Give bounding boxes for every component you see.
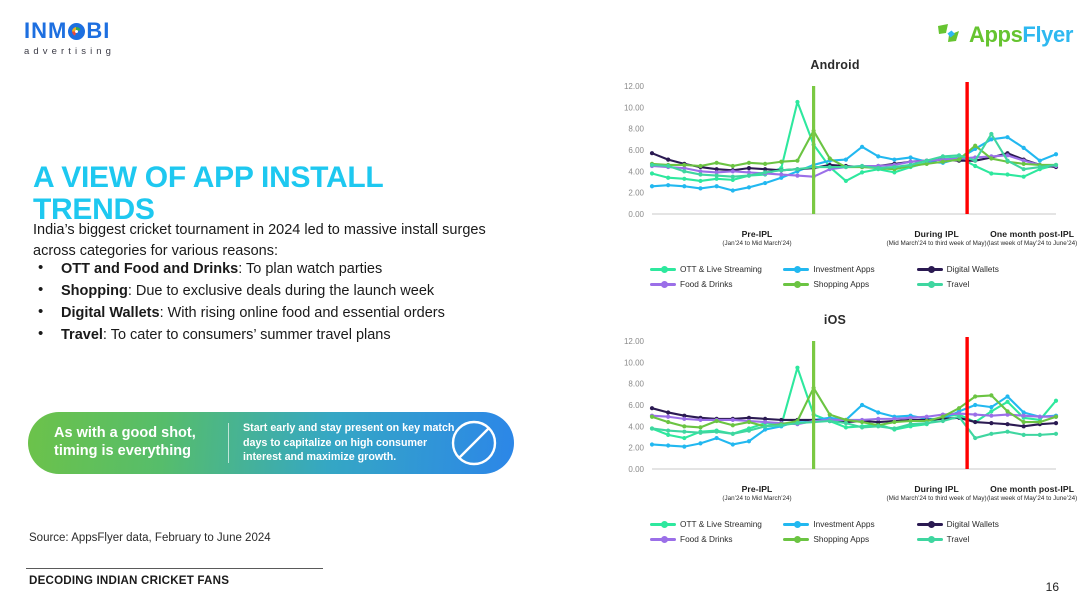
data-point: [860, 170, 864, 174]
data-point: [973, 144, 977, 148]
data-point: [892, 426, 896, 430]
data-point: [763, 420, 767, 424]
chart-title: iOS: [600, 313, 1070, 327]
data-point: [844, 165, 848, 169]
data-point: [731, 432, 735, 436]
inmobi-tagline: advertising: [24, 46, 174, 57]
data-point: [989, 156, 993, 160]
data-point: [989, 421, 993, 425]
legend-swatch-icon: [650, 268, 676, 271]
data-point: [731, 442, 735, 446]
list-item-text: : To plan watch parties: [238, 261, 382, 277]
data-point: [682, 163, 686, 167]
x-axis-phase-1: Pre-IPL(Jan’24 to Mid March’24): [672, 484, 842, 502]
data-point: [1054, 432, 1058, 436]
data-point: [779, 168, 783, 172]
data-point: [763, 170, 767, 174]
data-point: [1005, 430, 1009, 434]
callout-divider: [228, 423, 229, 463]
data-point: [989, 414, 993, 418]
data-point: [1038, 433, 1042, 437]
deck-title: DECODING INDIAN CRICKET FANS: [29, 574, 229, 587]
data-point: [1022, 433, 1026, 437]
appsflyer-logo: AppsFlyer: [937, 22, 1073, 48]
data-point: [682, 445, 686, 449]
data-point: [860, 420, 864, 424]
data-point: [1054, 399, 1058, 403]
key-takeaway-callout: As with a good shot, timing is everythin…: [28, 412, 514, 474]
data-point: [666, 410, 670, 414]
data-point: [1005, 409, 1009, 413]
data-point: [731, 188, 735, 192]
legend-item[interactable]: Travel: [917, 279, 1050, 289]
data-point: [941, 415, 945, 419]
data-point: [731, 175, 735, 179]
data-point: [682, 430, 686, 434]
x-axis-phase-3: One month post-IPL(last week of May’24 t…: [957, 229, 1081, 247]
data-point: [957, 415, 961, 419]
data-point: [682, 417, 686, 421]
data-point: [973, 159, 977, 163]
data-point: [779, 160, 783, 164]
data-point: [795, 159, 799, 163]
data-point: [1022, 167, 1026, 171]
data-point: [876, 410, 880, 414]
legend-item[interactable]: Travel: [917, 534, 1050, 544]
data-point: [715, 184, 719, 188]
y-axis-tick-label: 0.00: [628, 210, 644, 219]
data-point: [876, 417, 880, 421]
phase-label: Pre-IPL: [672, 229, 842, 239]
legend-label: Shopping Apps: [813, 534, 869, 544]
legend-label: Food & Drinks: [680, 279, 733, 289]
data-point: [1054, 421, 1058, 425]
legend-swatch-icon: [783, 283, 809, 286]
data-point: [1005, 394, 1009, 398]
intro-paragraph: India’s biggest cricket tournament in 20…: [33, 220, 503, 262]
phase-sublabel: (Jan’24 to Mid March’24): [672, 240, 842, 247]
y-axis-tick-label: 8.00: [628, 380, 644, 389]
data-point: [1022, 414, 1026, 418]
legend-label: Digital Wallets: [947, 519, 999, 529]
data-point: [957, 158, 961, 162]
data-point: [698, 186, 702, 190]
data-point: [666, 433, 670, 437]
data-point: [666, 164, 670, 168]
data-point: [779, 423, 783, 427]
data-point: [747, 439, 751, 443]
data-point: [763, 181, 767, 185]
data-point: [715, 419, 719, 423]
page-number: 16: [1046, 580, 1059, 594]
legend-label: Travel: [947, 534, 970, 544]
appsflyer-apps-text: Apps: [969, 22, 1022, 47]
data-point: [908, 155, 912, 159]
data-point: [682, 169, 686, 173]
data-point: [650, 415, 654, 419]
data-point: [763, 424, 767, 428]
data-point: [925, 159, 929, 163]
data-point: [860, 145, 864, 149]
data-point: [682, 436, 686, 440]
data-point: [1005, 135, 1009, 139]
legend-swatch-icon: [917, 283, 943, 286]
data-point: [1022, 420, 1026, 424]
legend-label: Travel: [947, 279, 970, 289]
x-axis-phase-3: One month post-IPL(last week of May’24 t…: [957, 484, 1081, 502]
legend-swatch-icon: [917, 523, 943, 526]
y-axis-tick-label: 2.00: [628, 444, 644, 453]
chart-title: Android: [600, 58, 1070, 72]
data-point: [876, 424, 880, 428]
data-point: [666, 158, 670, 162]
data-point: [715, 430, 719, 434]
data-point: [1038, 165, 1042, 169]
x-axis-phase-1: Pre-IPL(Jan’24 to Mid March’24): [672, 229, 842, 247]
list-item-label: Shopping: [61, 283, 128, 299]
source-note: Source: AppsFlyer data, February to June…: [29, 532, 271, 544]
list-item: Shopping: Due to exclusive deals during …: [33, 280, 513, 302]
data-point: [876, 154, 880, 158]
legend-swatch-icon: [650, 283, 676, 286]
callout-body: Start early and stay present on key matc…: [243, 421, 468, 465]
plot-area: 0.002.004.006.008.0010.0012.00Pre-IPL(Ja…: [600, 78, 1070, 228]
y-axis-tick-label: 4.00: [628, 422, 644, 431]
reasons-list: OTT and Food and Drinks: To plan watch p…: [33, 258, 513, 346]
data-point: [1005, 400, 1009, 404]
legend-label: Investment Apps: [813, 519, 874, 529]
legend-label: Food & Drinks: [680, 534, 733, 544]
data-point: [715, 174, 719, 178]
list-item: OTT and Food and Drinks: To plan watch p…: [33, 258, 513, 280]
slide-root: INM BI advertising AppsFlyer A VIEW OF A…: [0, 0, 1081, 608]
data-point: [973, 420, 977, 424]
list-item-label: Travel: [61, 327, 103, 343]
data-point: [650, 163, 654, 167]
data-point: [666, 429, 670, 433]
legend-item[interactable]: Shopping Apps: [783, 534, 916, 544]
data-point: [731, 423, 735, 427]
data-point: [747, 166, 751, 170]
legend-item[interactable]: Food & Drinks: [650, 534, 783, 544]
inmobi-logo: INM BI advertising: [24, 20, 174, 57]
y-axis-tick-label: 2.00: [628, 189, 644, 198]
data-point: [1005, 422, 1009, 426]
legend-label: Shopping Apps: [813, 279, 869, 289]
y-axis-tick-label: 6.00: [628, 401, 644, 410]
data-point: [892, 165, 896, 169]
data-point: [698, 418, 702, 422]
list-item: Digital Wallets: With rising online food…: [33, 302, 513, 324]
data-point: [698, 179, 702, 183]
data-point: [1022, 146, 1026, 150]
data-point: [715, 161, 719, 165]
data-point: [650, 426, 654, 430]
data-point: [973, 394, 977, 398]
data-point: [828, 419, 832, 423]
list-item: Travel: To cater to consumers’ summer tr…: [33, 324, 513, 346]
data-point: [844, 421, 848, 425]
data-point: [1022, 162, 1026, 166]
y-axis-tick-label: 6.00: [628, 146, 644, 155]
inmobi-word-pre: INM: [24, 20, 67, 42]
legend-item[interactable]: Food & Drinks: [650, 279, 783, 289]
circle-slash-icon: [450, 419, 498, 467]
data-point: [650, 151, 654, 155]
data-point: [925, 421, 929, 425]
data-point: [892, 420, 896, 424]
phase-label: One month post-IPL: [957, 484, 1081, 494]
data-point: [844, 425, 848, 429]
data-point: [747, 420, 751, 424]
list-item-text: : With rising online food and essential …: [160, 305, 445, 321]
data-point: [828, 156, 832, 160]
chart-legend: OTT & Live StreamingInvestment AppsDigit…: [650, 519, 1050, 549]
data-point: [698, 431, 702, 435]
y-axis-tick-label: 10.00: [624, 103, 645, 112]
data-point: [795, 421, 799, 425]
legend-item[interactable]: Investment Apps: [783, 519, 916, 529]
data-point: [731, 418, 735, 422]
data-point: [747, 161, 751, 165]
data-point: [666, 443, 670, 447]
series-line-shopping-apps: [652, 388, 1056, 427]
legend-label: OTT & Live Streaming: [680, 519, 762, 529]
legend-swatch-icon: [917, 538, 943, 541]
y-axis-tick-label: 8.00: [628, 125, 644, 134]
data-point: [1054, 163, 1058, 167]
data-point: [892, 158, 896, 162]
phase-sublabel: (Jan’24 to Mid March’24): [672, 495, 842, 502]
data-point: [795, 174, 799, 178]
phase-sublabel: (last week of May’24 to June’24): [957, 495, 1081, 502]
y-axis-tick-label: 0.00: [628, 465, 644, 474]
data-point: [925, 415, 929, 419]
data-point: [682, 424, 686, 428]
appsflyer-mark-icon: [937, 22, 965, 48]
y-axis-tick-label: 4.00: [628, 167, 644, 176]
data-point: [908, 163, 912, 167]
chart-legend: OTT & Live StreamingInvestment AppsDigit…: [650, 264, 1050, 294]
data-point: [698, 425, 702, 429]
data-point: [666, 420, 670, 424]
data-point: [650, 442, 654, 446]
phase-sublabel: (last week of May’24 to June’24): [957, 240, 1081, 247]
data-point: [1005, 172, 1009, 176]
data-point: [650, 171, 654, 175]
list-item-text: : Due to exclusive deals during the laun…: [128, 283, 434, 299]
data-point: [747, 174, 751, 178]
legend-label: Investment Apps: [813, 264, 874, 274]
data-point: [973, 413, 977, 417]
legend-swatch-icon: [783, 268, 809, 271]
legend-label: OTT & Live Streaming: [680, 264, 762, 274]
appsflyer-wordmark: AppsFlyer: [969, 24, 1073, 46]
data-point: [698, 172, 702, 176]
data-point: [1038, 420, 1042, 424]
data-point: [747, 429, 751, 433]
legend-swatch-icon: [917, 268, 943, 271]
data-point: [989, 393, 993, 397]
data-point: [731, 169, 735, 173]
data-point: [1054, 415, 1058, 419]
chart-ios: iOS0.002.004.006.008.0010.0012.00Pre-IPL…: [600, 313, 1070, 549]
data-point: [666, 415, 670, 419]
y-axis-tick-label: 12.00: [624, 337, 645, 346]
data-point: [989, 405, 993, 409]
data-point: [682, 177, 686, 181]
footer-divider: [26, 568, 323, 569]
data-point: [666, 183, 670, 187]
data-point: [973, 164, 977, 168]
data-point: [731, 164, 735, 168]
appsflyer-flyer-text: Flyer: [1022, 22, 1073, 47]
legend-swatch-icon: [783, 523, 809, 526]
legend-item[interactable]: OTT & Live Streaming: [650, 264, 783, 274]
data-point: [989, 171, 993, 175]
inmobi-word-post: BI: [86, 20, 110, 42]
y-axis-tick-label: 10.00: [624, 358, 645, 367]
series-line-ott-live-streaming: [652, 368, 1056, 438]
chart-android: Android0.002.004.006.008.0010.0012.00Pre…: [600, 58, 1070, 294]
legend-label: Digital Wallets: [947, 264, 999, 274]
plot-area: 0.002.004.006.008.0010.0012.00Pre-IPL(Ja…: [600, 333, 1070, 483]
data-point: [973, 403, 977, 407]
y-axis-tick-label: 12.00: [624, 82, 645, 91]
data-point: [860, 164, 864, 168]
data-point: [666, 176, 670, 180]
data-point: [908, 422, 912, 426]
legend-swatch-icon: [650, 538, 676, 541]
data-point: [941, 160, 945, 164]
data-point: [844, 179, 848, 183]
data-point: [795, 366, 799, 370]
data-point: [698, 164, 702, 168]
data-point: [779, 172, 783, 176]
list-item-label: OTT and Food and Drinks: [61, 261, 238, 277]
data-point: [989, 432, 993, 436]
data-point: [973, 436, 977, 440]
list-item-label: Digital Wallets: [61, 305, 160, 321]
data-point: [860, 425, 864, 429]
legend-item[interactable]: OTT & Live Streaming: [650, 519, 783, 529]
legend-item[interactable]: Shopping Apps: [783, 279, 916, 289]
data-point: [715, 436, 719, 440]
data-point: [650, 406, 654, 410]
data-point: [1038, 415, 1042, 419]
data-point: [957, 406, 961, 410]
data-point: [1022, 424, 1026, 428]
data-point: [844, 158, 848, 162]
legend-item[interactable]: Investment Apps: [783, 264, 916, 274]
data-point: [941, 154, 945, 158]
series-line-shopping-apps: [652, 131, 1056, 169]
data-point: [682, 184, 686, 188]
data-point: [876, 166, 880, 170]
inmobi-o-ring-icon: [68, 23, 85, 40]
legend-item[interactable]: Digital Wallets: [917, 264, 1050, 274]
callout-title: As with a good shot, timing is everythin…: [28, 425, 226, 460]
data-point: [698, 441, 702, 445]
inmobi-wordmark: INM BI: [24, 20, 174, 42]
data-point: [828, 165, 832, 169]
data-point: [860, 403, 864, 407]
data-point: [1005, 159, 1009, 163]
data-point: [747, 185, 751, 189]
data-point: [828, 413, 832, 417]
data-point: [650, 184, 654, 188]
data-point: [989, 132, 993, 136]
phase-label: Pre-IPL: [672, 484, 842, 494]
list-item-text: : To cater to consumers’ summer travel p…: [103, 327, 391, 343]
phase-label: One month post-IPL: [957, 229, 1081, 239]
data-point: [1022, 175, 1026, 179]
data-point: [763, 162, 767, 166]
legend-swatch-icon: [650, 523, 676, 526]
legend-item[interactable]: Digital Wallets: [917, 519, 1050, 529]
data-point: [1054, 152, 1058, 156]
data-point: [941, 419, 945, 423]
page-title: A VIEW OF APP INSTALL TRENDS: [33, 162, 503, 225]
legend-swatch-icon: [783, 538, 809, 541]
data-point: [795, 167, 799, 171]
data-point: [989, 409, 993, 413]
data-point: [1038, 159, 1042, 163]
data-point: [795, 100, 799, 104]
data-point: [957, 153, 961, 157]
